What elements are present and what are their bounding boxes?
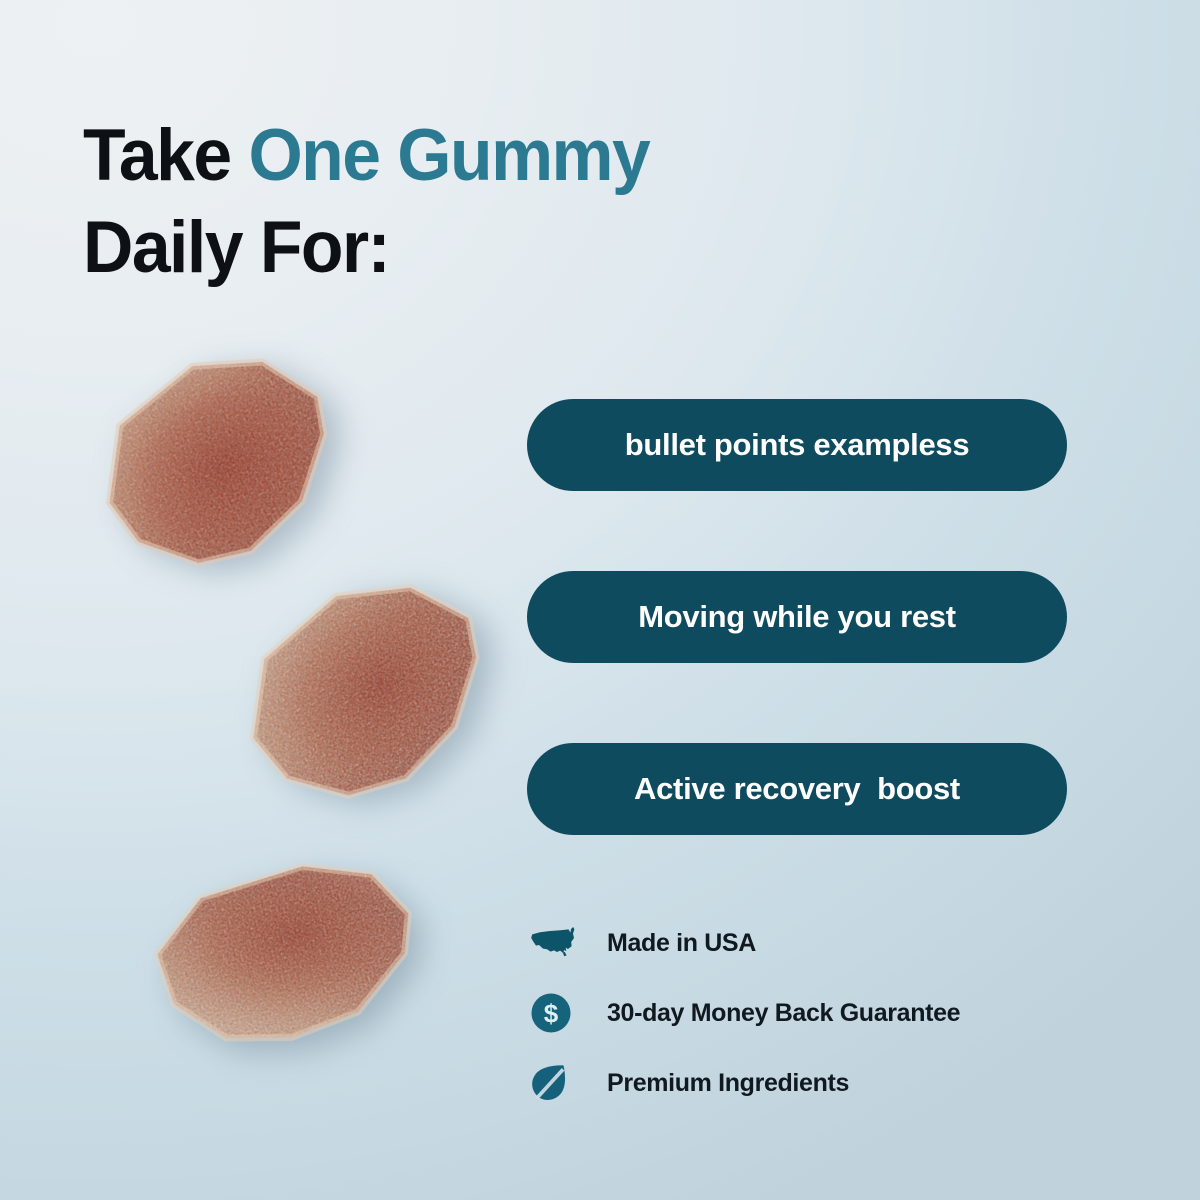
page-title: Take One GummyDaily For: (83, 110, 809, 294)
trust-badge-premium-ingredients-label: Premium Ingredients (607, 1069, 849, 1098)
gummy-candy-2 (198, 531, 534, 846)
page-title-part-one-gummy: One Gummy (248, 115, 649, 196)
trust-badge-money-back: $ 30-day Money Back Guarantee (530, 984, 1090, 1042)
leaf-icon (530, 1061, 582, 1105)
gummy-candy-1 (55, 311, 375, 609)
page-title-part-take: Take (83, 115, 248, 196)
trust-badge-list: Made in USA $ 30-day Money Back Guarante… (530, 914, 1090, 1124)
usa-map-icon (530, 921, 582, 965)
benefit-pill-1[interactable]: bullet points exampless (527, 399, 1067, 491)
benefit-pill-2-label: Moving while you rest (638, 599, 956, 635)
trust-badge-made-in-usa: Made in USA (530, 914, 1090, 972)
benefit-pill-2[interactable]: Moving while you rest (527, 571, 1067, 663)
page-title-part-daily-for: Daily For: (83, 207, 389, 288)
svg-text:$: $ (544, 999, 559, 1029)
dollar-circle-icon: $ (530, 991, 582, 1035)
product-benefits-panel: Take One GummyDaily For: (0, 0, 1200, 1200)
trust-badge-money-back-label: 30-day Money Back Guarantee (607, 999, 960, 1028)
trust-badge-made-in-usa-label: Made in USA (607, 929, 756, 958)
gummy-candy-3 (133, 839, 437, 1067)
trust-badge-premium-ingredients: Premium Ingredients (530, 1054, 1090, 1112)
benefit-pill-3-label: Active recovery boost (634, 771, 960, 807)
benefit-pill-3[interactable]: Active recovery boost (527, 743, 1067, 835)
benefit-pill-1-label: bullet points exampless (625, 427, 970, 463)
